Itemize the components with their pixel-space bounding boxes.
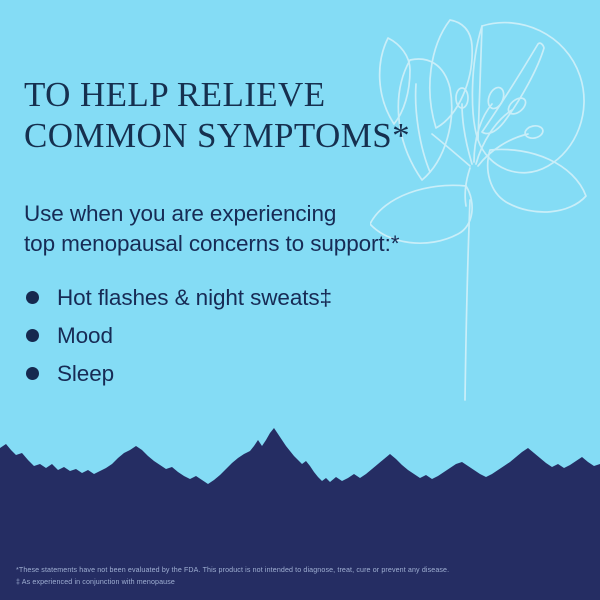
footnote: *These statements have not been evaluate… bbox=[16, 565, 584, 576]
subheading: Use when you are experiencing top menopa… bbox=[24, 157, 576, 259]
footnote-text: As experienced in conjunction with menop… bbox=[20, 578, 175, 586]
list-item: Mood bbox=[26, 322, 576, 349]
page-title: TO HELP RELIEVE COMMON SYMPTOMS* bbox=[24, 0, 576, 157]
bullet-dot-icon bbox=[26, 291, 39, 304]
list-item: Sleep bbox=[26, 360, 576, 387]
bullet-dot-icon bbox=[26, 329, 39, 342]
list-item: Hot flashes & night sweats‡ bbox=[26, 284, 576, 311]
benefit-label: Sleep bbox=[57, 360, 114, 387]
footnote-text: These statements have not been evaluated… bbox=[19, 566, 449, 574]
content-block: TO HELP RELIEVE COMMON SYMPTOMS* Use whe… bbox=[0, 0, 600, 398]
benefit-label: Mood bbox=[57, 322, 113, 349]
benefits-list: Hot flashes & night sweats‡ Mood Sleep bbox=[24, 259, 576, 387]
footnotes-block: *These statements have not been evaluate… bbox=[0, 565, 600, 600]
footnote: ‡ As experienced in conjunction with men… bbox=[16, 577, 584, 588]
bullet-dot-icon bbox=[26, 367, 39, 380]
benefit-label: Hot flashes & night sweats‡ bbox=[57, 284, 332, 311]
promo-card: TO HELP RELIEVE COMMON SYMPTOMS* Use whe… bbox=[0, 0, 600, 600]
